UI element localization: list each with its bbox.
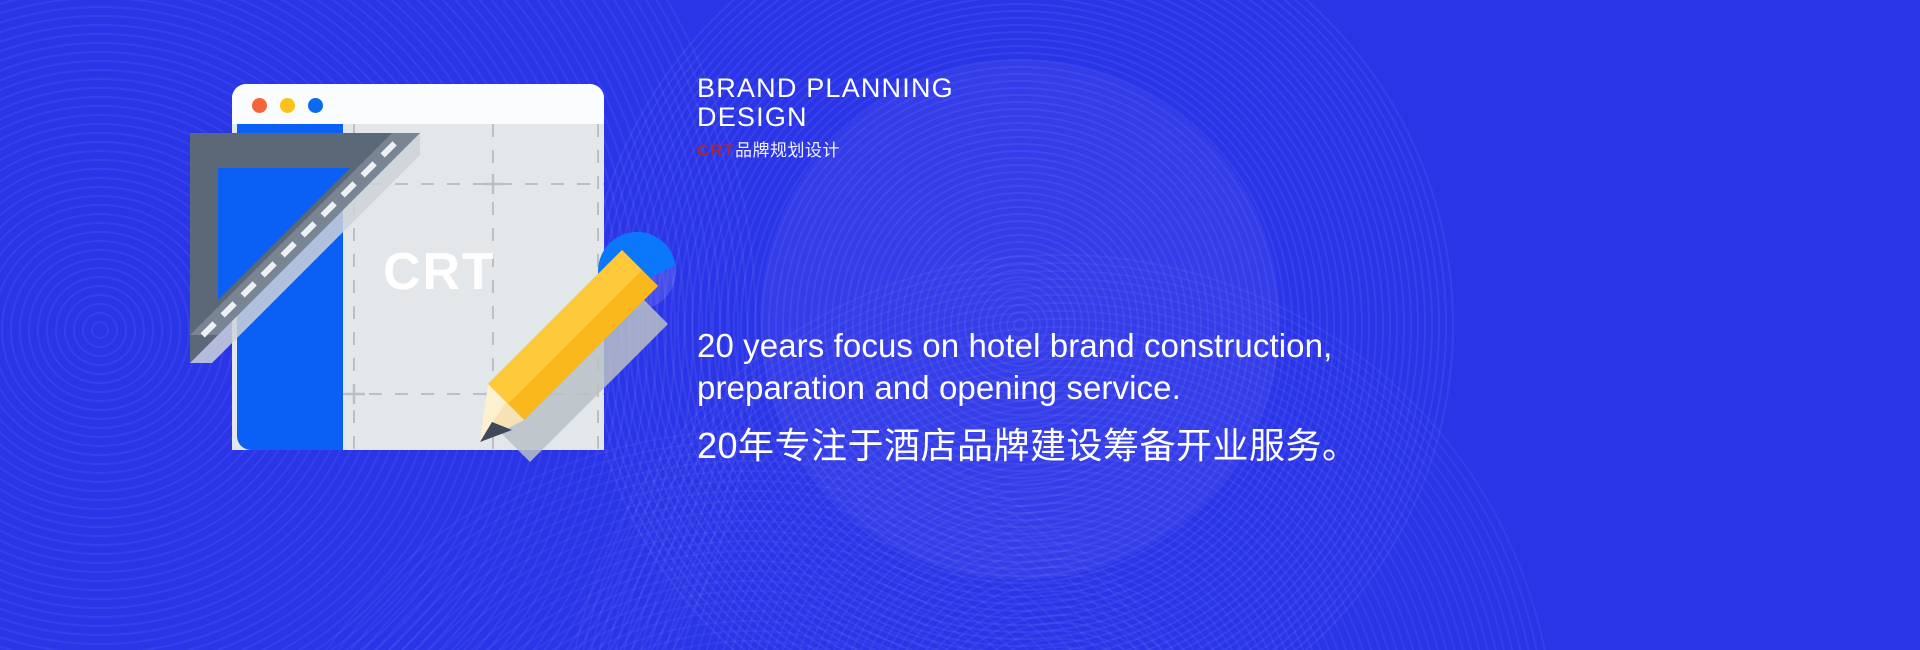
- brand-banner: CRT: [0, 0, 1920, 650]
- pencil-icon: [462, 228, 692, 468]
- window-titlebar: [232, 84, 604, 124]
- subhead-line: CRT品牌规划设计: [697, 140, 1397, 162]
- close-dot-icon: [252, 98, 267, 113]
- tagline-english: 20 years focus on hotel brand constructi…: [697, 325, 1827, 409]
- minimize-dot-icon: [280, 98, 295, 113]
- subhead-chinese-text: 品牌规划设计: [735, 141, 840, 160]
- subhead-brand-text: CRT: [697, 141, 735, 160]
- headline-block: BRAND PLANNING DESIGN CRT品牌规划设计: [697, 74, 1397, 162]
- tagline-block: 20 years focus on hotel brand constructi…: [697, 325, 1827, 469]
- brand-design-illustration: CRT: [0, 0, 800, 650]
- maximize-dot-icon: [308, 98, 323, 113]
- triangle-ruler-icon: [190, 133, 420, 363]
- tagline-chinese: 20年专注于酒店品牌建设筹备开业服务。: [697, 423, 1827, 469]
- headline-title: BRAND PLANNING DESIGN: [697, 74, 1397, 132]
